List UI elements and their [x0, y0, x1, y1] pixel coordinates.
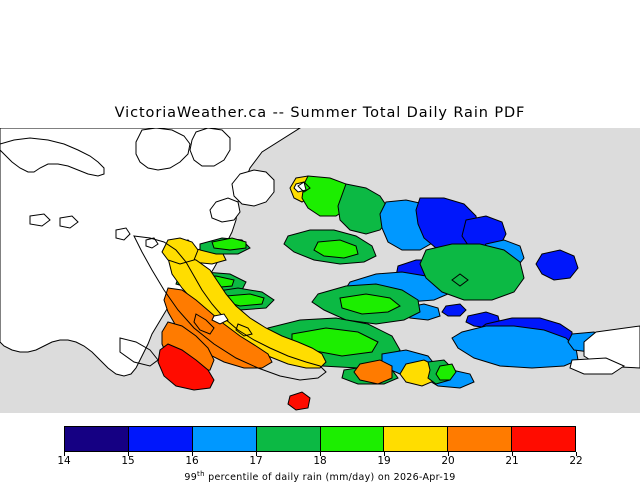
colorbar-segment-20-21[interactable] — [448, 427, 512, 451]
region-mid-blue-small-1[interactable] — [442, 304, 466, 316]
colorbar-ticks: 141516171819202122 — [64, 452, 576, 466]
colorbar-caption-superscript: th — [197, 470, 205, 478]
colorbar-caption-suffix: percentile of daily rain (mm/day) on 202… — [205, 472, 456, 483]
region-islet-orange[interactable] — [354, 360, 392, 384]
page-title: VictoriaWeather.ca -- Summer Total Daily… — [0, 105, 640, 121]
colorbar-segment-19-20[interactable] — [384, 427, 448, 451]
colorbar-area: 141516171819202122 99th percentile of da… — [0, 418, 640, 480]
white-island-mid-1 — [232, 170, 274, 206]
colorbar-caption: 99th percentile of daily rain (mm/day) o… — [0, 470, 640, 483]
colorbar-segment-21-22[interactable] — [512, 427, 575, 451]
colorbar-tick-label-20: 20 — [441, 455, 454, 467]
colorbar-tick-label-17: 17 — [249, 455, 262, 467]
colorbar-tick-label-14: 14 — [57, 455, 70, 467]
colorbar-tick-label-21: 21 — [505, 455, 518, 467]
weather-map-page: VictoriaWeather.ca -- Summer Total Daily… — [0, 0, 640, 480]
colorbar-tick-label-22: 22 — [569, 455, 582, 467]
colorbar-tick-label-15: 15 — [121, 455, 134, 467]
map-canvas[interactable] — [0, 128, 640, 413]
colorbar-segment-14-15[interactable] — [65, 427, 129, 451]
colorbar-caption-prefix: 99 — [184, 472, 197, 483]
colorbar-tick-label-16: 16 — [185, 455, 198, 467]
colorbar-segment-17-18[interactable] — [257, 427, 321, 451]
colorbar[interactable] — [64, 426, 576, 452]
colorbar-tick-label-19: 19 — [377, 455, 390, 467]
colorbar-tick-label-18: 18 — [313, 455, 326, 467]
colorbar-segment-18-19[interactable] — [321, 427, 385, 451]
colorbar-segment-15-16[interactable] — [129, 427, 193, 451]
colorbar-segment-16-17[interactable] — [193, 427, 257, 451]
white-island-north-2 — [190, 128, 230, 166]
map-panel[interactable] — [0, 128, 640, 413]
